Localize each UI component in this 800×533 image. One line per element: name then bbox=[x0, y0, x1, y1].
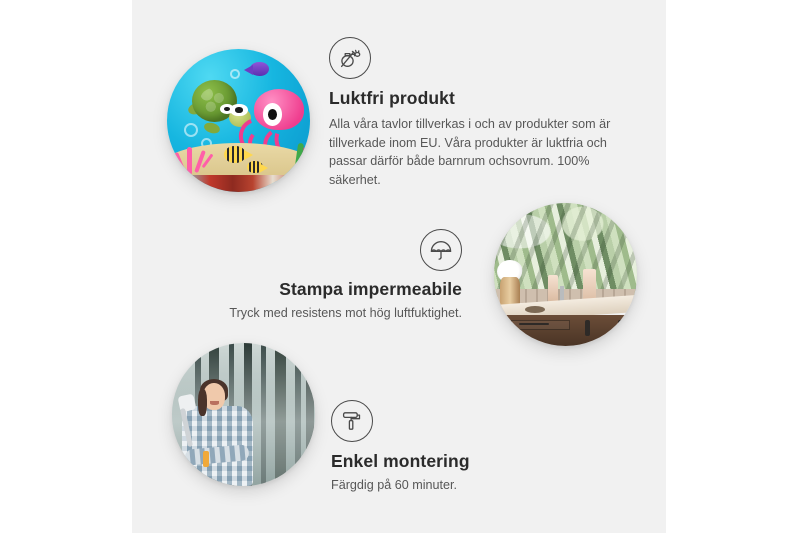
underwater-kids-mural-photo bbox=[167, 49, 310, 192]
feature-odourless: Luktfri produkt Alla våra tavlor tillver… bbox=[329, 37, 629, 189]
feature-body: Färgdig på 60 minuter. bbox=[331, 476, 611, 495]
painter-forest-wallpaper-photo bbox=[172, 343, 315, 486]
bottle bbox=[548, 275, 558, 304]
wood-vanity bbox=[500, 315, 637, 346]
bubble-icon bbox=[230, 69, 240, 79]
feature-title: Stampa impermeabile bbox=[162, 279, 462, 301]
umbrella-icon bbox=[420, 229, 462, 271]
coral-icon bbox=[173, 135, 222, 175]
yellow-fish-icon bbox=[247, 161, 263, 174]
feature-easy-assembly: Enkel montering Färgdig på 60 minuter. bbox=[331, 400, 611, 495]
yellow-fish-icon bbox=[224, 146, 245, 163]
feature-body: Alla våra tavlor tillverkas i och av pro… bbox=[329, 115, 625, 190]
feature-title: Luktfri produkt bbox=[329, 88, 629, 110]
bathroom-tropical-wallpaper-photo bbox=[494, 203, 637, 346]
paint-roller-icon bbox=[331, 400, 373, 442]
feature-body: Tryck med resistens mot hög luftfuktighe… bbox=[162, 304, 462, 323]
feature-title: Enkel montering bbox=[331, 451, 611, 473]
room-strip bbox=[167, 175, 310, 192]
feature-waterproof: Stampa impermeabile Tryck med resistens … bbox=[162, 229, 462, 323]
purple-fish-icon bbox=[250, 62, 269, 76]
painter-person bbox=[181, 383, 255, 486]
promo-graphic: Luktfri produkt Alla våra tavlor tillver… bbox=[0, 0, 800, 533]
no-odour-spray-bottle-icon bbox=[329, 37, 371, 79]
